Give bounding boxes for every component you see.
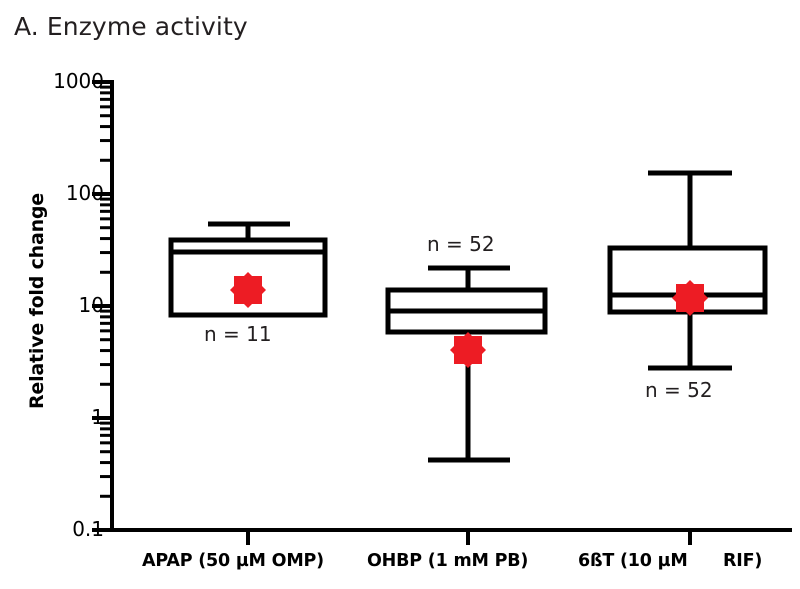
mean-marker-square bbox=[234, 276, 262, 304]
mean-marker-square bbox=[454, 336, 482, 364]
figure-panel-a: A. Enzyme activity Relative fold change … bbox=[0, 0, 800, 589]
mean-marker-square bbox=[676, 284, 704, 312]
boxplot-canvas bbox=[0, 0, 800, 589]
x-category-ticks bbox=[248, 530, 690, 545]
boxplot-6bt bbox=[610, 173, 765, 368]
